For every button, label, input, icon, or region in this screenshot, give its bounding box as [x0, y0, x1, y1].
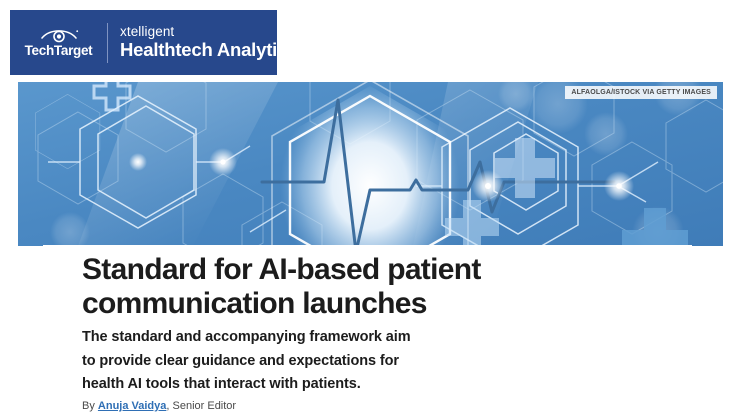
article-dek-line: health AI tools that interact with patie… [82, 373, 502, 396]
brand-kicker: xtelligent [120, 25, 297, 40]
byline-prefix: By [82, 400, 98, 412]
techtarget-logo[interactable]: TechTarget [10, 27, 101, 58]
byline-author-link[interactable]: Anuja Vaidya [98, 400, 166, 412]
hero-image: ALFAOLGA/ISTOCK VIA GETTY IMAGES [18, 82, 723, 246]
brand-divider [107, 23, 108, 63]
byline-role: , Senior Editor [166, 400, 236, 412]
article-byline: By Anuja Vaidya, Senior Editor [82, 399, 692, 413]
image-credit: ALFAOLGA/ISTOCK VIA GETTY IMAGES [565, 86, 717, 99]
brand-title: Healthtech Analytics [120, 40, 297, 60]
hero-graphic [18, 82, 723, 246]
article-dek-line: The standard and accompanying framework … [82, 326, 502, 349]
article-headline: Standard for AI-based patient communicat… [82, 253, 582, 320]
site-brand-header[interactable]: TechTarget xtelligent Healthtech Analyti… [10, 10, 277, 75]
article-dek-line: to provide clear guidance and expectatio… [82, 350, 502, 373]
article-dek: The standard and accompanying framework … [82, 326, 502, 396]
techtarget-wordmark: TechTarget [25, 44, 93, 58]
article-header-panel: Standard for AI-based patient communicat… [43, 245, 692, 400]
eye-icon [38, 27, 80, 43]
publication-name[interactable]: xtelligent Healthtech Analytics [120, 25, 297, 60]
